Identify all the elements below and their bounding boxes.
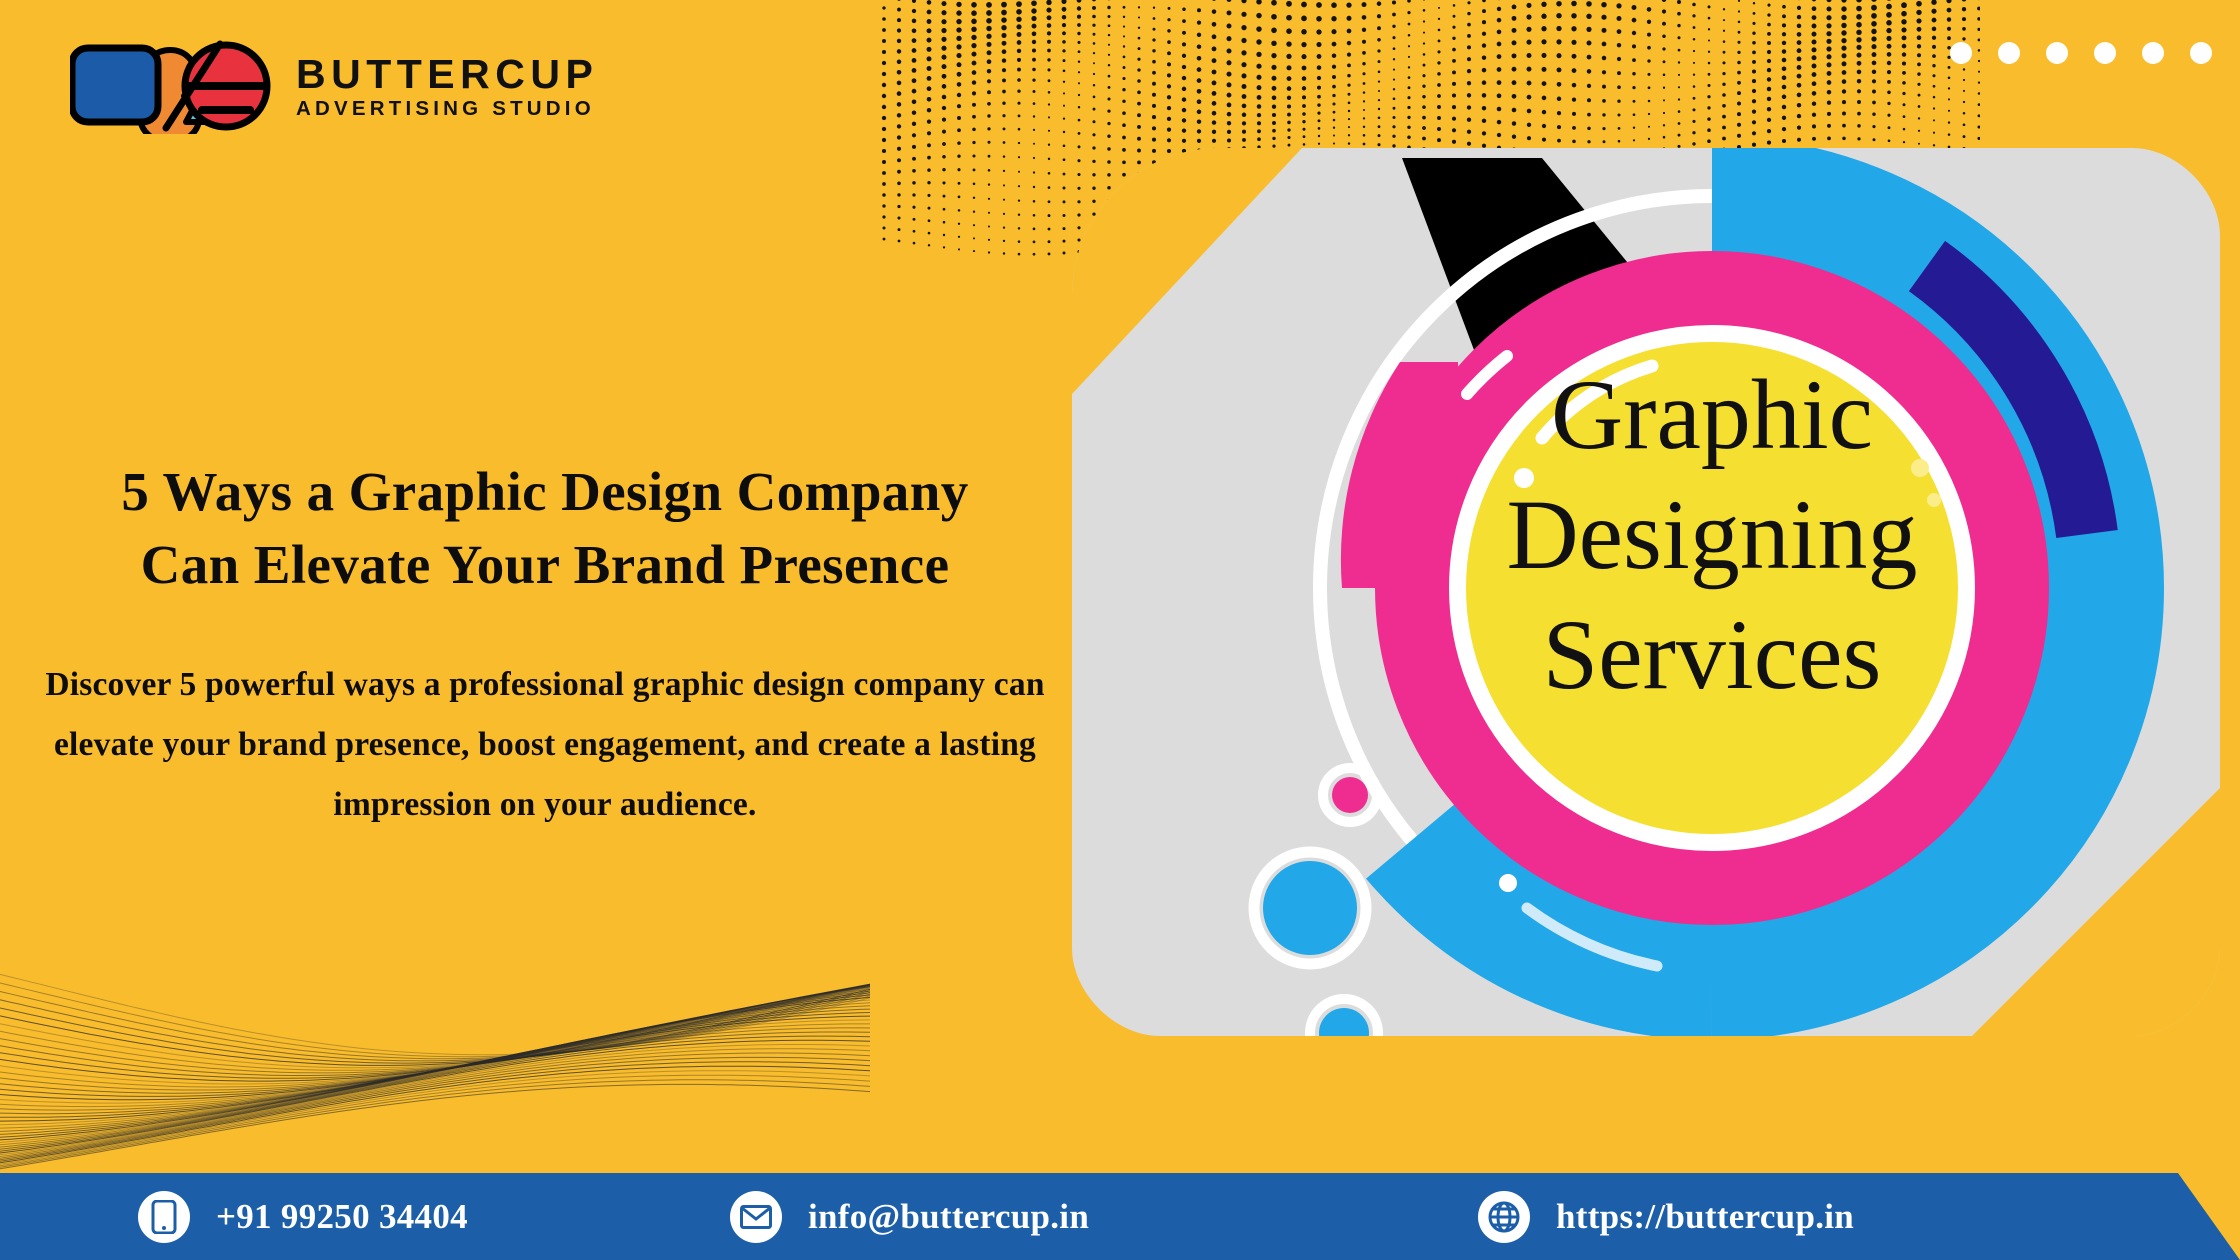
line-wave-pattern [0,880,870,1180]
contact-email[interactable]: info@buttercup.in [730,1191,1089,1243]
lens-text-line-2: Designing [1506,479,1917,590]
banner-canvas: BUTTERCUP ADVERTISING STUDIO 5 Ways a Gr… [0,0,2240,1260]
page-title: 5 Ways a Graphic Design Company Can Elev… [40,455,1050,601]
brand-name: BUTTERCUP [296,54,598,95]
phone-number: +91 99250 34404 [216,1197,468,1237]
buttercup-bs-monogram-icon [70,36,278,134]
contact-phone[interactable]: +91 99250 34404 [138,1191,468,1243]
brand-tagline: ADVERTISING STUDIO [296,99,598,120]
lens-text-line-1: Graphic [1551,359,1873,470]
page-description: Discover 5 powerful ways a professional … [40,655,1050,834]
website-url: https://buttercup.in [1556,1197,1854,1237]
headline-line-2: Can Elevate Your Brand Presence [40,528,1050,601]
headline-line-1: 5 Ways a Graphic Design Company [40,455,1050,528]
brand-logo[interactable]: BUTTERCUP ADVERTISING STUDIO [70,36,598,134]
dot-indicator-icon [2142,42,2164,64]
dot-indicator-icon [2046,42,2068,64]
dot-indicator-icon [1950,42,1972,64]
contact-website[interactable]: https://buttercup.in [1478,1191,1854,1243]
phone-icon [138,1191,190,1243]
email-address: info@buttercup.in [808,1197,1089,1237]
dot-indicator-icon [2094,42,2116,64]
lens-text-line-3: Services [1543,599,1882,710]
magnifying-glass-cmyk-illustration: Graphic Designing Services [1072,148,2220,1036]
email-icon [730,1191,782,1243]
dot-indicator-row [1950,42,2212,64]
dot-indicator-icon [1998,42,2020,64]
dot-indicator-icon [2190,42,2212,64]
contact-footer-bar: +91 99250 34404 info@buttercup.in https:… [0,1173,2240,1260]
globe-icon [1478,1191,1530,1243]
copy-block: 5 Ways a Graphic Design Company Can Elev… [40,455,1050,834]
